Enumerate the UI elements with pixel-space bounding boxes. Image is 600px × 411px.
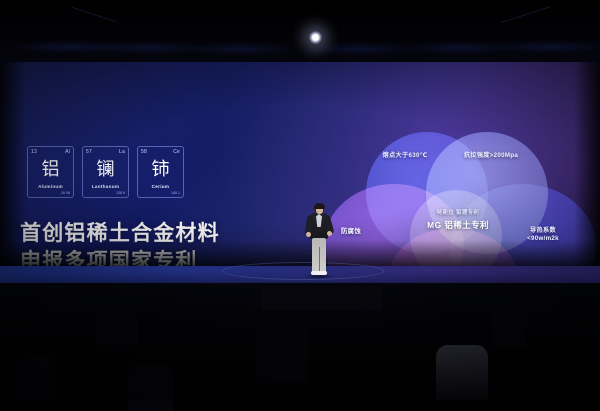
- speaker-shoes: [311, 271, 327, 275]
- audience-foreground: [0, 283, 600, 400]
- ceiling-light-glow: [490, 40, 600, 54]
- ceiling-light-glow: [180, 42, 300, 56]
- stage-spotlight-icon: [309, 31, 322, 44]
- stage-scene: 13 Al 铝 Aluminum 26.98 57 La 镧 Lanthanum…: [0, 0, 600, 400]
- led-screen: 13 Al 铝 Aluminum 26.98 57 La 镧 Lanthanum…: [0, 62, 600, 266]
- speaker-leg-gap: [319, 247, 320, 272]
- venn-core-title: MG 铝稀土专利: [396, 220, 520, 231]
- speaker-hair: [314, 203, 325, 210]
- ceiling: [0, 0, 600, 62]
- speaker-presenter: [305, 203, 333, 278]
- speaker-left-hand: [306, 232, 311, 237]
- venn-label-tensile-strength: 抗拉强度>200Mpa: [436, 152, 546, 160]
- speaker-right-hand: [327, 231, 332, 236]
- venn-label-core: 特斯拉 铝锂专利 MG 铝稀土专利: [396, 210, 520, 232]
- truss-beam: [501, 6, 551, 23]
- venn-core-subtitle: 特斯拉 铝锂专利: [396, 210, 520, 217]
- venn-label-conductivity-line2: <90w/m2k: [502, 235, 584, 243]
- foreground-vignette: [0, 283, 600, 400]
- stage-left-shadow: [0, 62, 26, 266]
- truss-beam: [71, 7, 117, 23]
